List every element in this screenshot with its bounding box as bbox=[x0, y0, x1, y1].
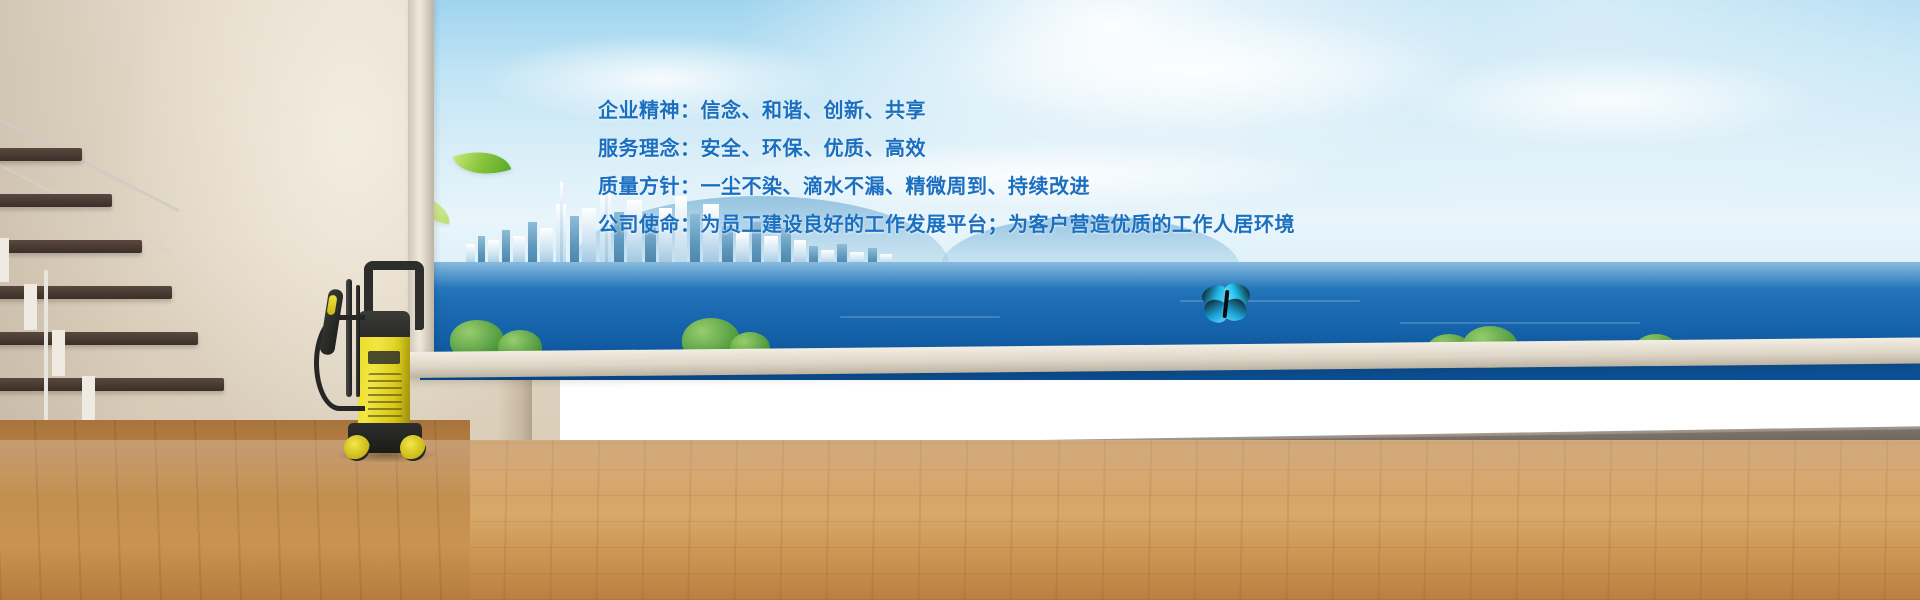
stair-tread bbox=[0, 332, 198, 345]
slogan-block: 企业精神：信念、和谐、创新、共享 服务理念：安全、环保、优质、高效 质量方针：一… bbox=[598, 92, 1358, 244]
washer-wheel bbox=[400, 435, 426, 461]
washer-vents bbox=[368, 373, 402, 421]
building bbox=[582, 208, 596, 266]
stair-riser bbox=[24, 284, 37, 330]
washer-wheel bbox=[344, 435, 370, 461]
stair-tread bbox=[0, 194, 112, 207]
slogan-line-corporate-spirit: 企业精神：信念、和谐、创新、共享 bbox=[598, 92, 1358, 130]
slogan-line-quality-policy: 质量方针：一尘不染、滴水不漏、精微周到、持续改进 bbox=[598, 168, 1358, 206]
building bbox=[502, 230, 510, 266]
stair-riser bbox=[82, 376, 95, 422]
stair-tread bbox=[0, 378, 224, 391]
building bbox=[528, 222, 537, 266]
building bbox=[570, 216, 579, 266]
sea-streak bbox=[1400, 322, 1640, 324]
pressure-washer bbox=[310, 255, 430, 465]
washer-brand-label bbox=[368, 351, 400, 364]
building bbox=[540, 228, 553, 266]
washer-top-cap bbox=[358, 311, 410, 337]
slogan-line-service-philosophy: 服务理念：安全、环保、优质、高效 bbox=[598, 130, 1358, 168]
stair-riser bbox=[0, 238, 9, 282]
sea-streak bbox=[840, 316, 1000, 318]
sea-horizon-shimmer bbox=[420, 262, 1920, 288]
building-spire bbox=[560, 182, 563, 266]
stair-riser bbox=[52, 330, 65, 376]
stair-tread bbox=[0, 148, 82, 161]
stair-tread bbox=[0, 240, 142, 253]
butterfly-icon bbox=[1200, 282, 1252, 326]
floor-reflection bbox=[0, 440, 1920, 600]
banner-stage: 企业精神：信念、和谐、创新、共享 服务理念：安全、环保、优质、高效 质量方针：一… bbox=[0, 0, 1920, 600]
slogan-line-company-mission: 公司使命：为员工建设良好的工作发展平台；为客户营造优质的工作人居环境 bbox=[598, 206, 1358, 244]
cloud bbox=[1400, 52, 1820, 148]
